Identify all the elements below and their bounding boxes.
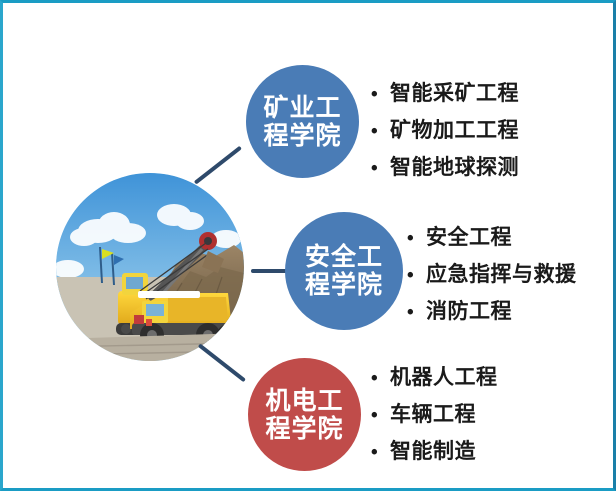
connector-line-mech xyxy=(198,343,246,382)
node-label-mechanical: 机电工 程学院 xyxy=(259,387,349,443)
mining-site-illustration xyxy=(56,173,244,361)
node-label-safety: 安全工 程学院 xyxy=(299,243,389,299)
bullet-dot-icon: • xyxy=(371,443,381,462)
bullet-dot-icon: • xyxy=(371,85,381,104)
list-item: • 消防工程 xyxy=(407,295,577,325)
connector-line-safety xyxy=(251,269,289,273)
node-circle-mining[interactable]: 矿业工 程学院 xyxy=(246,65,359,178)
list-item: • 智能采矿工程 xyxy=(371,77,519,107)
list-item: • 应急指挥与救援 xyxy=(407,258,577,288)
bullet-dot-icon: • xyxy=(371,369,381,388)
bullet-group-mining: • 智能采矿工程 • 矿物加工工程 • 智能地球探测 xyxy=(371,77,519,188)
list-item: • 机器人工程 xyxy=(371,361,498,391)
bullet-group-mechanical: • 机器人工程 • 车辆工程 • 智能制造 xyxy=(371,361,498,472)
list-item: • 车辆工程 xyxy=(371,398,498,428)
list-item: • 智能制造 xyxy=(371,435,498,465)
bullet-dot-icon: • xyxy=(371,406,381,425)
bullet-dot-icon: • xyxy=(407,266,417,285)
mining-site-photo xyxy=(56,173,244,361)
list-item-label: 机器人工程 xyxy=(390,361,498,391)
bullet-dot-icon: • xyxy=(407,229,417,248)
bullet-dot-icon: • xyxy=(371,122,381,141)
list-item: • 智能地球探测 xyxy=(371,151,519,181)
list-item: • 安全工程 xyxy=(407,221,577,251)
infographic-slide: 矿业工 程学院 安全工 程学院 机电工 程学院 • 智能采矿工程 • 矿物加工工… xyxy=(0,0,616,491)
bullet-dot-icon: • xyxy=(407,303,417,322)
list-item-label: 安全工程 xyxy=(426,221,512,251)
bullet-group-safety: • 安全工程 • 应急指挥与救援 • 消防工程 xyxy=(407,221,577,332)
bullet-dot-icon: • xyxy=(371,159,381,178)
list-item-label: 智能制造 xyxy=(390,435,476,465)
node-circle-safety[interactable]: 安全工 程学院 xyxy=(285,212,403,330)
list-item-label: 智能采矿工程 xyxy=(390,77,519,107)
list-item-label: 消防工程 xyxy=(426,295,512,325)
list-item-label: 车辆工程 xyxy=(390,398,476,428)
list-item-label: 矿物加工工程 xyxy=(390,114,519,144)
node-circle-mechanical[interactable]: 机电工 程学院 xyxy=(248,358,361,471)
list-item: • 矿物加工工程 xyxy=(371,114,519,144)
connector-line-mining xyxy=(194,146,242,185)
list-item-label: 应急指挥与救援 xyxy=(426,258,577,288)
list-item-label: 智能地球探测 xyxy=(390,151,519,181)
node-label-mining: 矿业工 程学院 xyxy=(257,94,347,150)
